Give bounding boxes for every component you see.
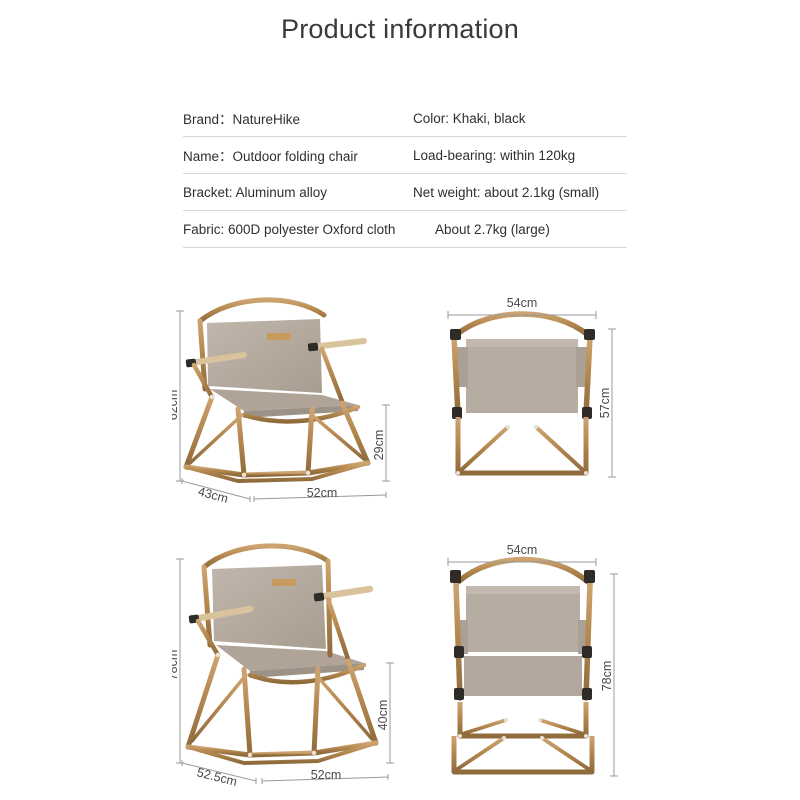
dimension-label-seat-height: 40cm [376,700,390,731]
dimension-label-folded-width: 54cm [507,296,538,310]
chair-illustration-folded-large [450,560,596,773]
chair-illustration-folded-small [450,314,595,475]
dimension-label-folded-width: 54cm [507,543,538,557]
spec-fabric-label: Fabric: 600D polyester Oxford cloth [183,222,413,237]
dimension-height-78cm: 78cm [600,574,618,776]
table-row: Name：Outdoor folding chair Load-bearing:… [183,137,627,174]
product-information-page: Product information Brand：NatureHike Col… [0,0,800,800]
diagram-open-chair-large: 78cm 40cm 52.5cm 52cm [172,535,417,790]
dimension-width-52cm: 52cm [262,768,388,784]
dimension-label-depth: 52.5cm [195,765,238,789]
diagram-open-chair-small: 62cm 29cm 43cm 52cm [172,285,417,510]
page-title: Product information [0,14,800,45]
dimension-label-depth: 43cm [196,484,229,505]
spec-bracket-label: Bracket: Aluminum alloy [183,185,413,200]
spec-net-weight-label: Net weight: about 2.1kg (small) [413,185,627,200]
dimension-diagrams: 62cm 29cm 43cm 52cm [0,280,800,800]
dimension-label-folded-height: 57cm [598,388,612,419]
spec-color-label: Color: Khaki, black [413,111,627,126]
dimension-seat-height-40cm: 40cm [376,663,394,763]
spec-name-label: Name：Outdoor folding chair [183,145,413,165]
table-row: Brand：NatureHike Color: Khaki, black [183,100,627,137]
dimension-width-54cm: 54cm [448,543,596,566]
dimension-height-57cm: 57cm [598,329,616,477]
dimension-label-folded-height: 78cm [600,661,614,692]
dimension-height-78cm: 78cm [172,559,184,763]
diagram-folded-chair-small: 54cm 57cm [432,285,652,510]
table-row: Fabric: 600D polyester Oxford cloth Abou… [183,211,627,248]
specification-table: Brand：NatureHike Color: Khaki, black Nam… [183,100,627,248]
spec-large-weight-label: About 2.7kg (large) [413,222,627,237]
chair-illustration-open-large [188,546,376,763]
spec-load-label: Load-bearing: within 120kg [413,148,627,163]
table-row: Bracket: Aluminum alloy Net weight: abou… [183,174,627,211]
dimension-label-width: 52cm [311,768,342,782]
dimension-label-seat-height: 29cm [372,430,386,461]
dimension-label-height: 62cm [172,390,180,421]
spec-brand-label: Brand：NatureHike [183,108,413,128]
dimension-height-62cm: 62cm [172,311,184,481]
dimension-width-52cm: 52cm [254,486,386,502]
diagram-folded-chair-large: 54cm 78cm [432,530,652,790]
dimension-label-height: 78cm [172,650,180,681]
dimension-seat-height-29cm: 29cm [372,405,390,481]
dimension-label-width: 52cm [307,486,338,500]
chair-illustration-open-small [186,300,368,481]
